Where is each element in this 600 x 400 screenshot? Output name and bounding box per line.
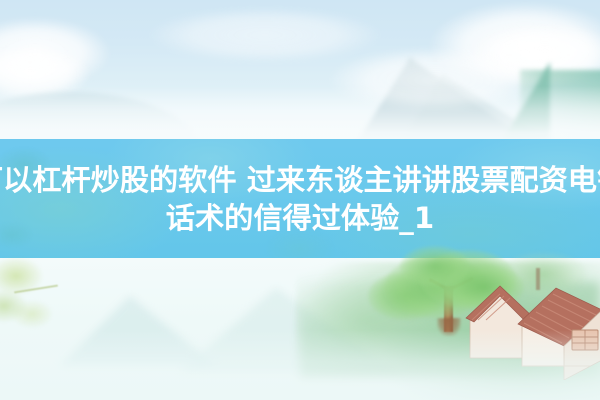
mountain-mist (0, 86, 600, 146)
title-line-2: 话术的信得过体验_1 (166, 199, 434, 237)
title-block: 可以杠杆炒股的软件 过来东谈主讲讲股票配资电销 话术的信得过体验_1 (0, 139, 600, 258)
tree-canopy (400, 246, 470, 286)
article-cover-banner: 可以杠杆炒股的软件 过来东谈主讲讲股票配资电销 话术的信得过体验_1 (0, 0, 600, 400)
bottom-mist (0, 330, 600, 400)
cloud (150, 8, 380, 62)
title-line-1: 可以杠杆炒股的软件 过来东谈主讲讲股票配资电销 (0, 161, 600, 199)
